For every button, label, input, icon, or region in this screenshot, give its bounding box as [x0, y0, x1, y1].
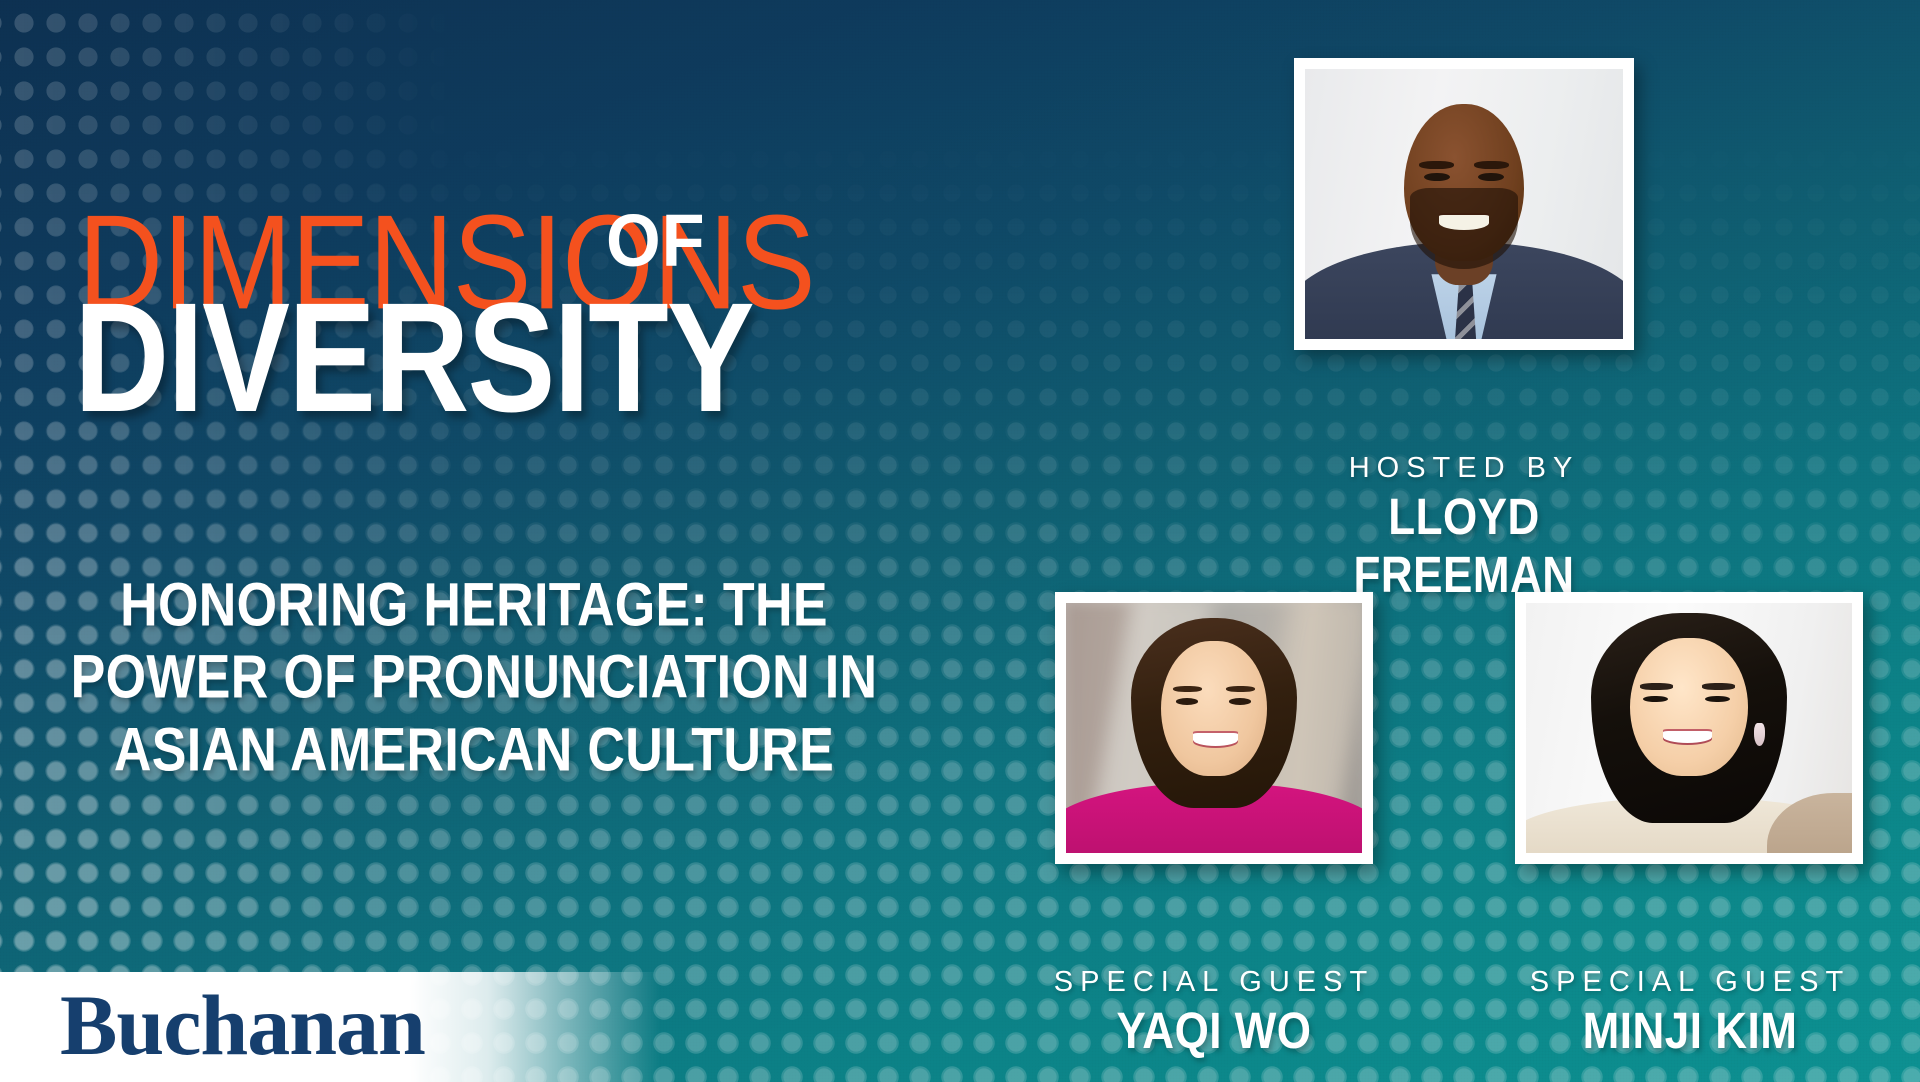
portrait-yaqi-wo: [1066, 603, 1362, 853]
promo-graphic: DIMENSIONS OF DIVERSITY HONORING HERITAG…: [0, 0, 1920, 1082]
portrait-brow-right: [1702, 683, 1735, 690]
caption-guest-2: SPECIAL GUEST MINJI KIM: [1495, 966, 1885, 1053]
episode-title: HONORING HERITAGE: THE POWER OF PRONUNCI…: [48, 570, 900, 787]
portrait-brow-right: [1474, 161, 1509, 170]
portrait-eye-left: [1643, 696, 1667, 703]
caption-host: HOSTED BY LLOYD FREEMAN: [1274, 452, 1654, 589]
portrait-lloyd-freeman: [1305, 69, 1623, 339]
portrait-minji-kim: [1526, 603, 1852, 853]
headshot-frame-guest-2: [1515, 592, 1863, 864]
portrait-brow-right: [1226, 686, 1256, 693]
portrait-eye-right: [1478, 173, 1503, 181]
headshot-photo-host: [1305, 69, 1623, 339]
headshot-photo-guest-1: [1066, 603, 1362, 853]
series-word-diversity: DIVERSITY: [74, 280, 753, 436]
caption-name-guest-2: MINJI KIM: [1495, 1003, 1885, 1061]
portrait-smile: [1193, 733, 1237, 746]
portrait-eye-left: [1176, 698, 1198, 705]
caption-kicker-guest-2: SPECIAL GUEST: [1495, 966, 1885, 999]
portrait-smile: [1663, 731, 1712, 744]
portrait-earring: [1754, 723, 1764, 746]
portrait-smile: [1439, 215, 1490, 230]
portrait-brow-left: [1173, 686, 1203, 693]
series-title-lockup: DIMENSIONS OF DIVERSITY: [78, 196, 838, 346]
caption-name-host: LLOYD FREEMAN: [1274, 489, 1654, 605]
caption-guest-1: SPECIAL GUEST YAQI WO: [1024, 966, 1404, 1053]
portrait-eye-right: [1705, 696, 1729, 703]
headshot-frame-guest-1: [1055, 592, 1373, 864]
series-word-of: OF: [606, 204, 706, 278]
caption-name-guest-1: YAQI WO: [1024, 1003, 1404, 1061]
portrait-head: [1161, 641, 1268, 776]
footer-logo-bar: Buchanan: [0, 972, 660, 1082]
caption-kicker-host: HOSTED BY: [1274, 452, 1654, 485]
caption-kicker-guest-1: SPECIAL GUEST: [1024, 966, 1404, 999]
portrait-brow-left: [1419, 161, 1454, 170]
buchanan-logo: Buchanan: [60, 982, 425, 1068]
portrait-head: [1630, 638, 1747, 776]
portrait-eye-right: [1229, 698, 1251, 705]
portrait-eye-left: [1424, 173, 1449, 181]
series-title-line: DIMENSIONS OF DIVERSITY: [78, 196, 838, 346]
headshot-frame-host: [1294, 58, 1634, 350]
portrait-brow-left: [1640, 683, 1673, 690]
headshot-photo-guest-2: [1526, 603, 1852, 853]
